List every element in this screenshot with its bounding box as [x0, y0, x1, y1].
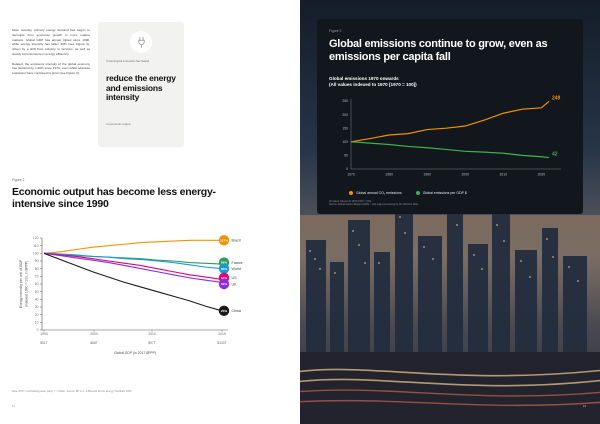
svg-text:1990: 1990	[423, 173, 431, 177]
legend-swatch-1	[416, 191, 420, 195]
svg-text:World: World	[232, 267, 241, 271]
svg-text:$68T: $68T	[90, 341, 98, 345]
left-page: More recently, primary energy demand has…	[0, 0, 300, 424]
svg-text:China: China	[232, 309, 241, 313]
svg-text:62%: 62%	[221, 282, 227, 286]
figure-2-number: Figure 2	[12, 178, 24, 182]
document-spread: More recently, primary energy demand has…	[0, 0, 600, 424]
svg-text:30: 30	[35, 305, 39, 309]
svg-text:150: 150	[342, 126, 348, 130]
svg-text:10: 10	[35, 321, 39, 325]
figure-3-title: Global emissions continue to grow, even …	[329, 38, 574, 64]
callout-kicker: Technological innovation has helped	[106, 60, 176, 64]
left-page-number: 12	[12, 405, 15, 408]
svg-text:40: 40	[35, 298, 39, 302]
figure-3-legend: Global annual CO₂ emissions Global emiss…	[349, 191, 467, 195]
svg-text:117%: 117%	[220, 238, 228, 242]
svg-text:80: 80	[35, 267, 39, 271]
svg-text:60: 60	[35, 282, 39, 286]
right-page-number: 13	[583, 405, 586, 408]
svg-text:1990: 1990	[40, 332, 48, 336]
figure-3-footnote: All values indexed to 1970 [1970 = 100].…	[329, 200, 569, 207]
svg-text:1980: 1980	[385, 173, 393, 177]
svg-text:0: 0	[37, 328, 39, 332]
figure-3-panel: Figure 3 Global emissions continue to gr…	[317, 19, 583, 214]
figure-2-chart: 0102030405060708090100110120199020002010…	[12, 218, 284, 368]
svg-text:249: 249	[552, 95, 561, 101]
paragraph-1: More recently, primary energy demand has…	[12, 28, 90, 57]
svg-text:Global GDP (in 2017 $PPP): Global GDP (in 2017 $PPP)	[114, 351, 156, 355]
svg-text:120: 120	[33, 236, 39, 240]
legend-label-1: Global emissions per GDP $	[423, 191, 467, 195]
svg-text:250: 250	[342, 99, 348, 103]
svg-text:2010: 2010	[500, 173, 508, 177]
figure-3-chart: 5010015020025001970198019902000201020202…	[327, 95, 573, 187]
svg-text:$130T: $130T	[217, 341, 227, 345]
svg-text:2019: 2019	[218, 332, 226, 336]
callout-card: Technological innovation has helped redu…	[98, 22, 184, 147]
figure-2-title: Economic output has become less energy-i…	[12, 186, 222, 211]
svg-text:US: US	[232, 276, 238, 280]
body-text-column: More recently, primary energy demand has…	[12, 28, 90, 81]
svg-text:Energy intensity per unit of G: Energy intensity per unit of GDP	[19, 259, 23, 308]
svg-text:0: 0	[346, 167, 348, 171]
svg-text:25%: 25%	[221, 309, 227, 313]
right-page: Figure 3 Global emissions continue to gr…	[300, 0, 600, 424]
svg-text:20: 20	[35, 313, 39, 317]
svg-text:2000: 2000	[461, 173, 469, 177]
svg-text:$97T: $97T	[148, 341, 156, 345]
legend-item-0: Global annual CO₂ emissions	[349, 191, 402, 195]
svg-text:100: 100	[342, 140, 348, 144]
legend-swatch-0	[349, 191, 353, 195]
svg-text:80%: 80%	[221, 267, 227, 271]
svg-text:$51T: $51T	[40, 341, 48, 345]
svg-text:France: France	[232, 261, 243, 265]
svg-text:42: 42	[552, 152, 558, 158]
paragraph-2: Related, the emissions intensity of the …	[12, 62, 90, 76]
svg-text:Brazil: Brazil	[232, 239, 241, 243]
callout-sub: of economic output	[106, 122, 176, 126]
svg-text:2000: 2000	[90, 332, 98, 336]
figure-2-footnote: Note: PPP = purchasing power parity. T =…	[12, 390, 212, 394]
plug-icon	[130, 31, 152, 53]
svg-text:(Indexed 1990 = 100, in $PPP): (Indexed 1990 = 100, in $PPP)	[25, 261, 29, 307]
svg-text:50: 50	[344, 154, 348, 158]
svg-text:90: 90	[35, 259, 39, 263]
svg-text:200: 200	[342, 113, 348, 117]
legend-label-0: Global annual CO₂ emissions	[356, 191, 402, 195]
legend-item-1: Global emissions per GDP $	[416, 191, 467, 195]
figure-3-number: Figure 3	[329, 29, 341, 33]
svg-text:2020: 2020	[538, 173, 546, 177]
figure-3-subtitle: Global emissions 1970 onwards (All value…	[329, 76, 564, 88]
svg-text:110: 110	[33, 244, 39, 248]
callout-headline: reduce the energy and emissions intensit…	[106, 74, 176, 103]
svg-text:70: 70	[35, 275, 39, 279]
svg-text:1970: 1970	[347, 173, 355, 177]
svg-text:50: 50	[35, 290, 39, 294]
svg-text:100: 100	[33, 252, 39, 256]
svg-text:2010: 2010	[148, 332, 156, 336]
svg-text:UK: UK	[232, 282, 238, 286]
